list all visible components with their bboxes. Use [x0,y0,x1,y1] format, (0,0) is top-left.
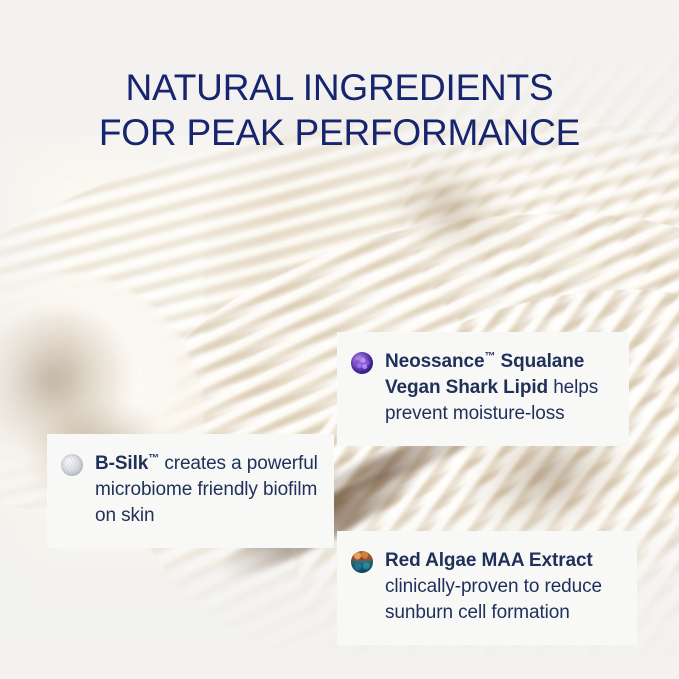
ingredient-benefit-redalgae: clinically-proven to reduce sunburn cell… [385,576,602,623]
ingredient-name-neossance: Neossance [385,351,484,372]
ingredient-callout-neossance: Neossance™ Squalane Vegan Shark Lipid he… [337,332,629,446]
product-ingredient-infographic: NATURAL INGREDIENTS FOR PEAK PERFORMANCE… [0,0,679,679]
b-silk-icon [61,454,83,476]
ingredient-callout-bsilk: B-Silk™ creates a powerful microbiome fr… [47,434,334,548]
ingredient-callout-neossance-text: Neossance™ Squalane Vegan Shark Lipid he… [385,349,619,427]
neossance-squalane-icon [351,352,373,374]
page-title: NATURAL INGREDIENTS FOR PEAK PERFORMANCE [0,65,679,155]
trademark-symbol-bsilk: ™ [148,453,159,465]
trademark-symbol-neossance: ™ [484,351,495,363]
red-algae-icon [351,551,373,573]
ingredient-callout-redalgae: Red Algae MAA Extract clinically-proven … [337,531,637,645]
ingredient-name-bsilk: B-Silk [95,453,148,474]
ingredient-callout-bsilk-text: B-Silk™ creates a powerful microbiome fr… [95,451,328,529]
ingredient-name-redalgae: Red Algae MAA Extract [385,550,593,571]
ingredient-callout-redalgae-text: Red Algae MAA Extract clinically-proven … [385,548,627,626]
